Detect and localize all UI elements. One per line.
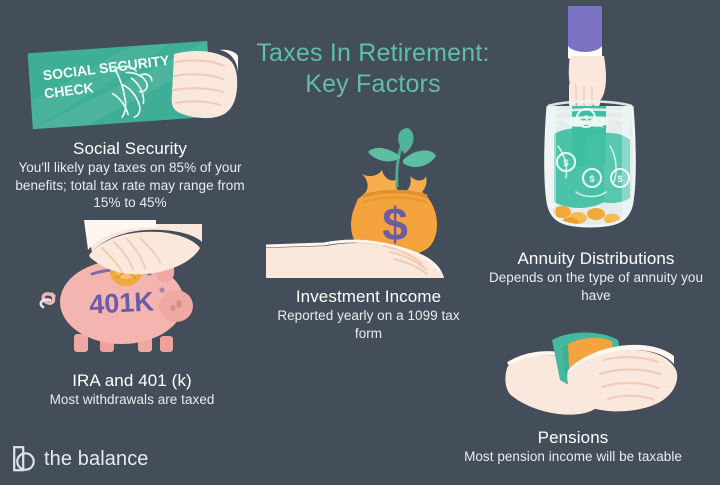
- cash-handoff-illustration: $: [508, 322, 680, 426]
- svg-text:$: $: [589, 174, 594, 184]
- logo-text: the balance: [44, 449, 149, 469]
- money-bag-plant-illustration: $: [266, 128, 466, 280]
- heading-annuity-distributions: Annuity Distributions: [480, 248, 712, 269]
- the-balance-logo[interactable]: the balance: [13, 446, 149, 472]
- heading-investment-income: Investment Income: [266, 286, 471, 307]
- leaf-left: [368, 148, 400, 161]
- title-line-2: Key Factors: [243, 69, 503, 100]
- money-jar-illustration: $$ $$: [524, 6, 656, 238]
- svg-text:$: $: [583, 114, 588, 124]
- heading-pensions: Pensions: [432, 427, 714, 448]
- page-title: Taxes In Retirement: Key Factors: [243, 38, 503, 100]
- piggy-bank-illustration: 401K: [30, 228, 216, 370]
- balance-logo-mark: [13, 446, 37, 472]
- body-investment-income: Reported yearly on a 1099 tax form: [266, 307, 471, 342]
- caption-annuity-distributions: Annuity Distributions Depends on the typ…: [480, 248, 712, 304]
- caption-social-security: Social Security You'll likely pay taxes …: [6, 138, 254, 212]
- body-pensions: Most pension income will be taxable: [432, 448, 714, 466]
- caption-ira-401k: IRA and 401 (k) Most withdrawals are tax…: [8, 370, 256, 409]
- hand-holding-check: [172, 50, 238, 118]
- money-bag-dollar-symbol: $: [382, 198, 408, 250]
- caption-pensions: Pensions Most pension income will be tax…: [432, 427, 714, 466]
- leaf-right: [403, 150, 436, 167]
- body-ira-401k: Most withdrawals are taxed: [8, 391, 256, 409]
- title-line-1: Taxes In Retirement:: [256, 39, 489, 67]
- heading-social-security: Social Security: [6, 138, 254, 159]
- piggy-bank-label: 401K: [89, 286, 156, 319]
- caption-investment-income: Investment Income Reported yearly on a 1…: [266, 286, 471, 342]
- purple-sleeve: [568, 6, 602, 52]
- infographic-canvas: Taxes In Retirement: Key Factors: [0, 0, 720, 485]
- social-security-check-illustration: SOCIAL SECURITY CHECK: [24, 32, 246, 136]
- body-social-security: You'll likely pay taxes on 85% of your b…: [6, 159, 254, 212]
- svg-text:$: $: [617, 174, 622, 184]
- body-annuity-distributions: Depends on the type of annuity you have: [480, 269, 712, 304]
- heading-ira-401k: IRA and 401 (k): [8, 370, 256, 391]
